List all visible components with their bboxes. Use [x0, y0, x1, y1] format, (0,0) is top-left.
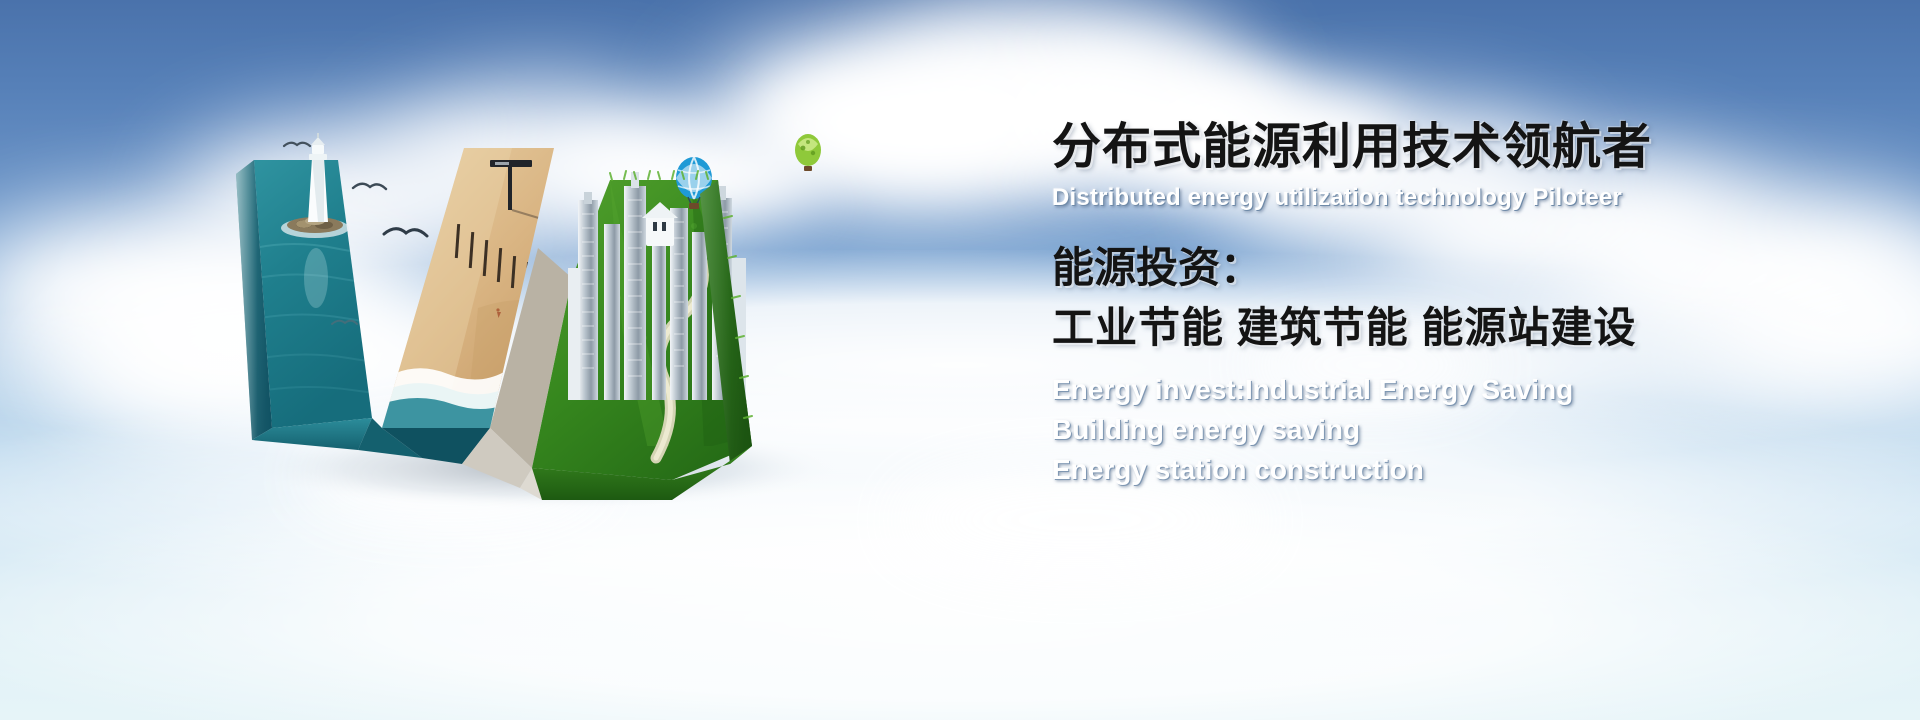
seagull-icon — [384, 229, 427, 236]
section-label: 能源投资： — [1052, 246, 1892, 290]
page-title: 分布式能源利用技术领航者 — [1052, 120, 1892, 175]
seagull-icon — [353, 184, 386, 189]
balloon-green-icon — [795, 134, 821, 171]
seagull-icon — [284, 143, 310, 146]
section-services: 工业节能 建筑节能 能源站建设 — [1052, 306, 1892, 350]
list-item: Building energy saving — [1052, 410, 1892, 450]
hero-banner: 分布式能源利用技术领航者 Distributed energy utilizat… — [0, 0, 1920, 720]
artwork-letter-w — [232, 128, 872, 508]
page-subtitle: Distributed energy utilization technolog… — [1052, 184, 1892, 212]
services-english-list: Energy invest:Industrial Energy Saving B… — [1052, 370, 1892, 489]
banner-copy: 分布式能源利用技术领航者 Distributed energy utilizat… — [1052, 120, 1892, 489]
list-item: Energy invest:Industrial Energy Saving — [1052, 370, 1892, 410]
list-item: Energy station construction — [1052, 450, 1892, 490]
